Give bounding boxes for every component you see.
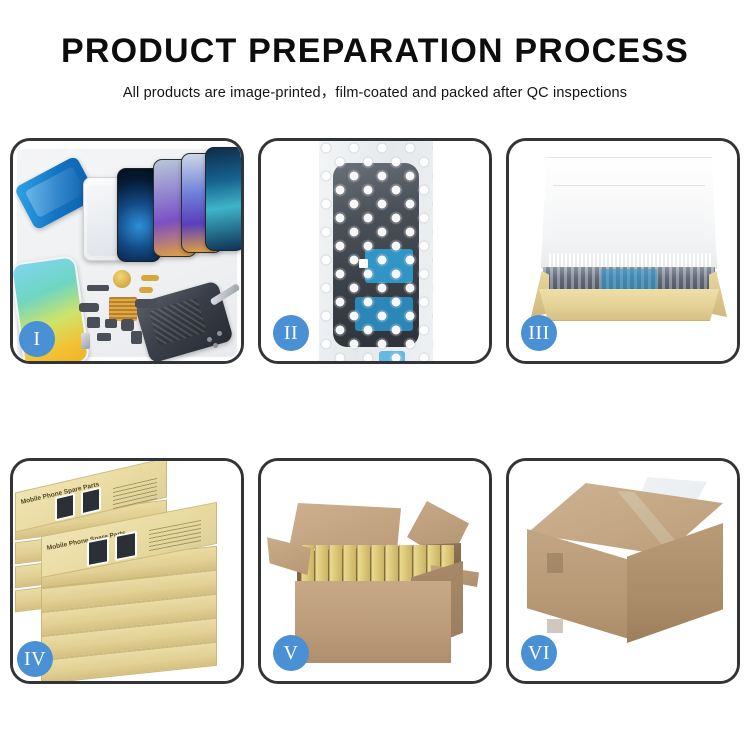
step-badge-5: V <box>273 635 309 671</box>
carton-front-face <box>295 581 451 663</box>
step-badge-6: VI <box>521 635 557 671</box>
page-subtitle: All products are image-printed，film-coat… <box>0 81 750 102</box>
step-panel-1: I <box>10 138 244 364</box>
part-vibrator <box>121 319 134 331</box>
step-panel-5: V <box>258 458 492 684</box>
part-connector-1 <box>87 317 100 328</box>
step-panel-4: Mobile Phone Spare Parts Mobile Phone Sp… <box>10 458 244 684</box>
retail-box-window-b2 <box>115 531 137 561</box>
step-panel-3: III <box>506 138 740 364</box>
part-camera-module <box>79 303 99 312</box>
carton-handle-notch-bottom <box>547 619 563 633</box>
product-preparation-infographic: PRODUCT PREPARATION PROCESS All products… <box>0 0 750 750</box>
part-screw-2 <box>217 331 222 336</box>
header: PRODUCT PREPARATION PROCESS All products… <box>0 0 750 102</box>
step-badge-4: IV <box>17 641 53 677</box>
retail-box-window-b1 <box>87 537 109 567</box>
part-flex-cable-1 <box>141 275 159 281</box>
step-badge-1: I <box>19 321 55 357</box>
part-sim-tray <box>81 333 90 349</box>
part-chip-array <box>109 297 137 321</box>
part-button-set <box>97 333 111 341</box>
retail-box-window-a2 <box>81 487 101 516</box>
steps-grid: I II <box>10 138 740 683</box>
part-flex-cable-3 <box>135 299 157 308</box>
part-screw-3 <box>213 343 218 348</box>
step-badge-3: III <box>521 315 557 351</box>
phone-screen-teal <box>205 147 241 251</box>
part-screw-1 <box>207 337 212 342</box>
retail-box-window-a1 <box>55 493 75 522</box>
part-strip-1 <box>87 285 109 291</box>
step-badge-2: II <box>273 315 309 351</box>
bubble-highlight-layer <box>319 141 433 361</box>
bubble-wrap-sheet <box>319 141 433 361</box>
page-title: PRODUCT PREPARATION PROCESS <box>0 34 750 70</box>
mailer-box-front <box>539 289 719 321</box>
part-battery-connector <box>131 331 142 344</box>
part-speaker-coil <box>113 270 131 288</box>
step-panel-2: II <box>258 138 492 364</box>
carton-handle-notch-top <box>547 553 563 573</box>
part-flex-cable-2 <box>139 287 153 293</box>
contents-blue-accent <box>601 269 657 291</box>
part-connector-2 <box>105 319 117 328</box>
step-panel-6: VI <box>506 458 740 684</box>
